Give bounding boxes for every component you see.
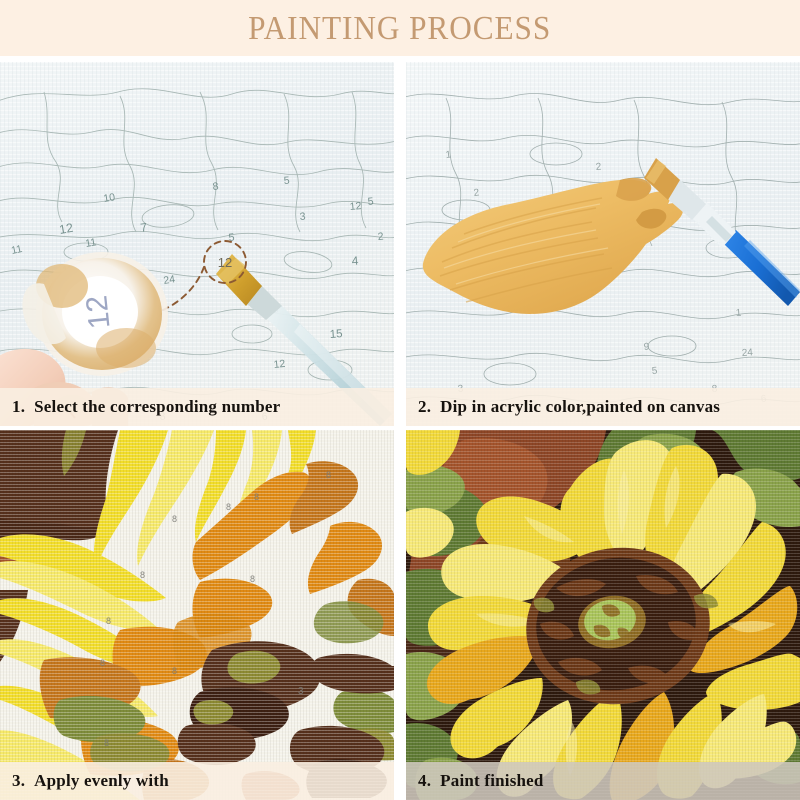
svg-text:10: 10: [103, 191, 117, 205]
step-3-number: 3.: [12, 771, 25, 791]
svg-text:15: 15: [329, 328, 343, 341]
step-2-number: 2.: [418, 397, 431, 417]
svg-text:8: 8: [172, 514, 177, 524]
steps-grid: 10 12 7 11 11 12 8 5 12 5 3 2 4 5 24 8 1: [0, 62, 800, 800]
step-1-photo: 10 12 7 11 11 12 8 5 12 5 3 2 4 5 24 8 1: [0, 62, 394, 426]
header-banner: PAINTING PROCESS: [0, 0, 800, 56]
step-4-photo: [406, 430, 800, 800]
page-title: PAINTING PROCESS: [249, 10, 552, 46]
svg-text:8: 8: [250, 574, 255, 584]
callout-target-number: 12: [218, 255, 232, 270]
step-2-panel: 1 2 2 21 2 24 5 8 6 3 9 1: [406, 62, 800, 426]
step-4-caption-text: Paint finished: [440, 771, 543, 791]
svg-text:5: 5: [283, 175, 290, 187]
svg-text:8: 8: [106, 616, 111, 626]
svg-text:8: 8: [140, 570, 145, 580]
svg-text:2: 2: [377, 231, 384, 243]
step-1-panel: 10 12 7 11 11 12 8 5 12 5 3 2 4 5 24 8 1: [0, 62, 394, 426]
svg-text:8: 8: [226, 502, 231, 512]
step-2-photo: 1 2 2 21 2 24 5 8 6 3 9 1: [406, 62, 800, 426]
svg-text:8: 8: [100, 658, 105, 668]
svg-text:8: 8: [254, 492, 259, 502]
step-3-caption-text: Apply evenly with: [34, 771, 169, 791]
step-3-caption: 3. Apply evenly with: [0, 762, 394, 800]
svg-text:3: 3: [298, 686, 304, 697]
step-1-caption: 1. Select the corresponding number: [0, 388, 394, 426]
svg-text:24: 24: [163, 273, 177, 287]
svg-text:12: 12: [58, 221, 74, 237]
step-1-number: 1.: [12, 397, 25, 417]
painting-process-infographic: PAINTING PROCESS: [0, 0, 800, 800]
svg-text:5: 5: [367, 196, 374, 208]
svg-text:4: 4: [351, 254, 359, 268]
step-2-caption: 2. Dip in acrylic color,painted on canva…: [406, 388, 800, 426]
pot-label-number: 12: [80, 294, 116, 331]
step-4-panel: 4. Paint finished: [406, 430, 800, 800]
svg-text:3: 3: [299, 211, 306, 223]
svg-text:8: 8: [326, 470, 331, 480]
svg-text:12: 12: [349, 200, 362, 213]
step-1-caption-text: Select the corresponding number: [34, 397, 280, 417]
step-4-number: 4.: [418, 771, 431, 791]
svg-text:8: 8: [172, 666, 177, 676]
svg-text:11: 11: [84, 236, 97, 250]
step-3-photo: 8 8 8 8 8 8 8 8 8 8 3: [0, 430, 394, 800]
step-3-panel: 8 8 8 8 8 8 8 8 8 8 3 3. Apply evenly wi…: [0, 430, 394, 800]
svg-text:8: 8: [104, 738, 109, 748]
svg-text:12: 12: [273, 358, 286, 371]
svg-text:24: 24: [741, 347, 753, 359]
step-4-caption: 4. Paint finished: [406, 762, 800, 800]
step-2-caption-text: Dip in acrylic color,painted on canvas: [440, 397, 720, 417]
